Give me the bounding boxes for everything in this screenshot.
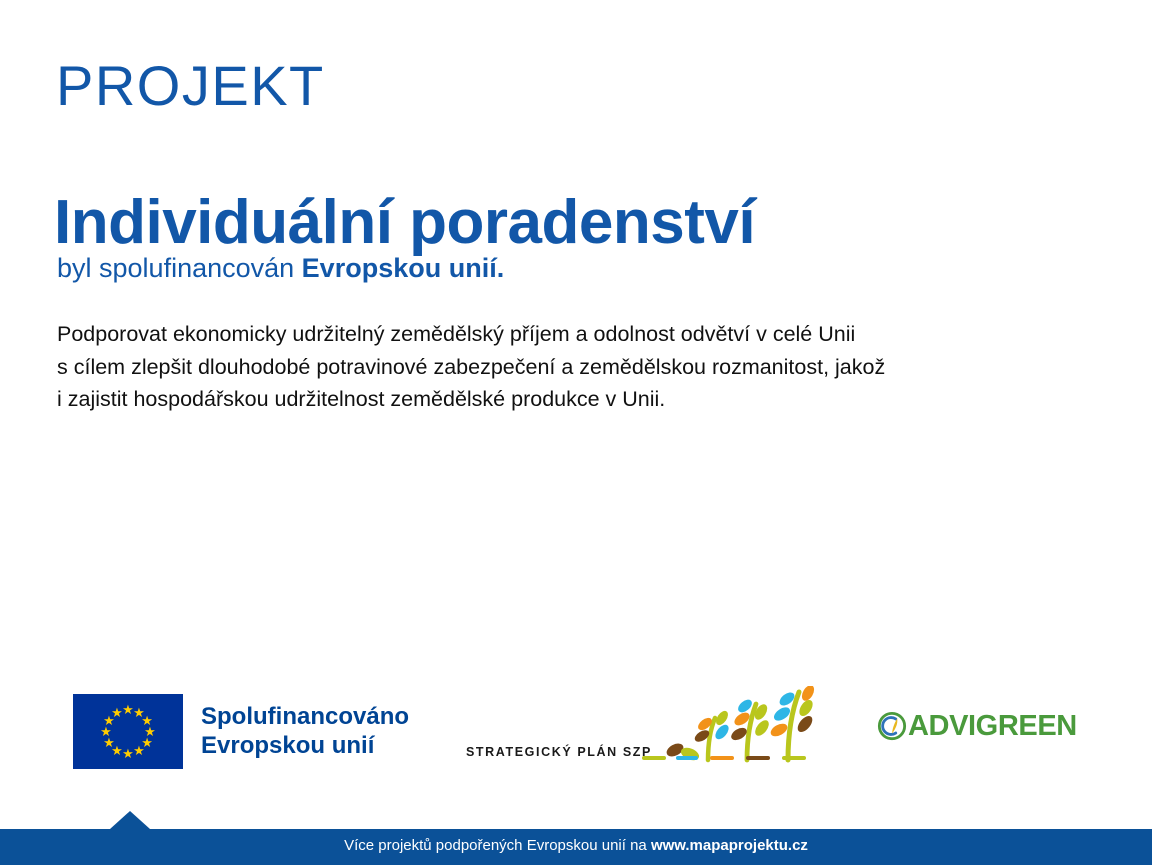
eu-star-icon: ★ [111,706,124,719]
eu-cofunding-line1: Spolufinancováno [201,703,409,731]
funding-subtitle-prefix: byl spolufinancován [57,253,302,283]
eu-cofunding-text: Spolufinancováno Evropskou unií [201,703,409,760]
funding-subtitle-emphasis: Evropskou unií. [302,253,505,283]
funding-subtitle: byl spolufinancován Evropskou unií. [57,252,504,284]
logo-strip: ★★★★★★★★★★★★ Spolufinancováno Evropskou … [0,686,1152,786]
body-line: s cílem zlepšit dlouhodobé potravinové z… [57,351,1107,384]
advigreen-mark-icon [877,711,907,741]
advigreen-wordmark: ADVIGREEN [908,712,1077,741]
kicker-label: PROJEKT [56,58,325,114]
eu-cofunding-line2: Evropskou unií [201,732,409,760]
eu-flag-icon: ★★★★★★★★★★★★ [73,694,183,769]
page-title: Individuální poradenství [54,190,755,255]
european-union-emblem: ★★★★★★★★★★★★ Spolufinancováno Evropskou … [73,694,409,769]
body-line: i zajistit hospodářskou udržitelnost zem… [57,383,1107,416]
strategicky-plan-szp-logo: STRATEGICKÝ PLÁN SZP [466,686,826,776]
advigreen-logo: ADVIGREEN [877,711,1077,741]
footer-message-prefix: Více projektů podpořených Evropskou unií… [344,837,651,854]
body-line: Podporovat ekonomicky udržitelný zeměděl… [57,318,1107,351]
growing-plants-icon [642,686,826,772]
body-paragraph: Podporovat ekonomicky udržitelný zeměděl… [57,318,1107,416]
szp-label: STRATEGICKÝ PLÁN SZP [466,745,652,759]
footer-message: Více projektů podpořených Evropskou unií… [0,838,1152,853]
footer-notch [110,811,150,829]
project-poster: PROJEKT Individuální poradenství byl spo… [0,0,1152,829]
footer-url[interactable]: www.mapaprojektu.cz [651,837,808,854]
